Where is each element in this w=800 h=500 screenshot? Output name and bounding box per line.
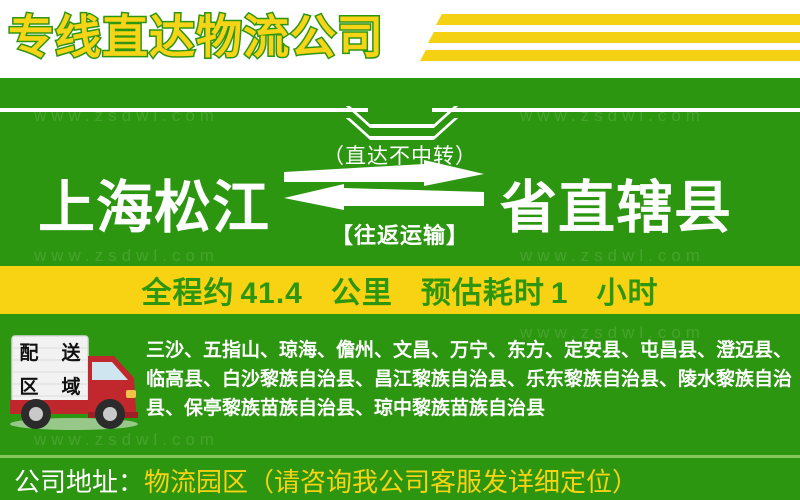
distance-value: 41.4 (240, 277, 302, 310)
badge-char-3: 区 (19, 372, 38, 399)
decorative-stripes (418, 12, 800, 70)
distance-prefix: 全程约 (141, 277, 234, 310)
footer-separator (0, 455, 800, 458)
distance-unit: 公里 (331, 277, 393, 310)
stripe-3 (420, 50, 800, 61)
poster-body: www.zsdwl.com www.zsdwl.com www.zsdwl.co… (0, 78, 800, 500)
bidirectional-arrow (284, 160, 484, 220)
duration-prefix: 预估耗时 (421, 277, 545, 310)
duration-unit: 小时 (597, 277, 659, 310)
duration-value: 1 (551, 277, 569, 310)
arrow-left-icon (284, 184, 484, 214)
stripe-1 (436, 14, 800, 25)
distance-band-text: 全程约41.4公里预估耗时1小时 (138, 268, 661, 312)
round-trip-note: 【往返运输】 (0, 218, 800, 250)
divider-with-chevron (0, 104, 800, 140)
address-value: 物流园区（请咨询我公司客服发详细定位） (144, 462, 638, 499)
divider-line-left (0, 108, 368, 112)
poster-header: 专线直达物流公司 (0, 0, 800, 78)
logistics-poster: 专线直达物流公司 www.zsdwl.com www.zsdwl.com www… (0, 0, 800, 500)
company-address-row: 公司地址： 物流园区（请咨询我公司客服发详细定位） (0, 460, 800, 500)
company-title: 专线直达物流公司 (8, 8, 384, 66)
divider-line-right (432, 108, 800, 112)
distance-band: 全程约41.4公里预估耗时1小时 (0, 266, 800, 314)
stripe-2 (428, 32, 800, 43)
badge-char-4: 域 (61, 372, 80, 399)
delivery-area-list: 三沙、五指山、琼海、儋州、文昌、万宁、东方、定安县、屯昌县、澄迈县、临高县、白沙… (146, 336, 794, 423)
badge-char-1: 配 (19, 338, 38, 365)
delivery-truck-icon: 配 送 区 域 (8, 334, 144, 434)
badge-char-2: 送 (61, 338, 80, 365)
address-label: 公司地址： (14, 462, 144, 499)
